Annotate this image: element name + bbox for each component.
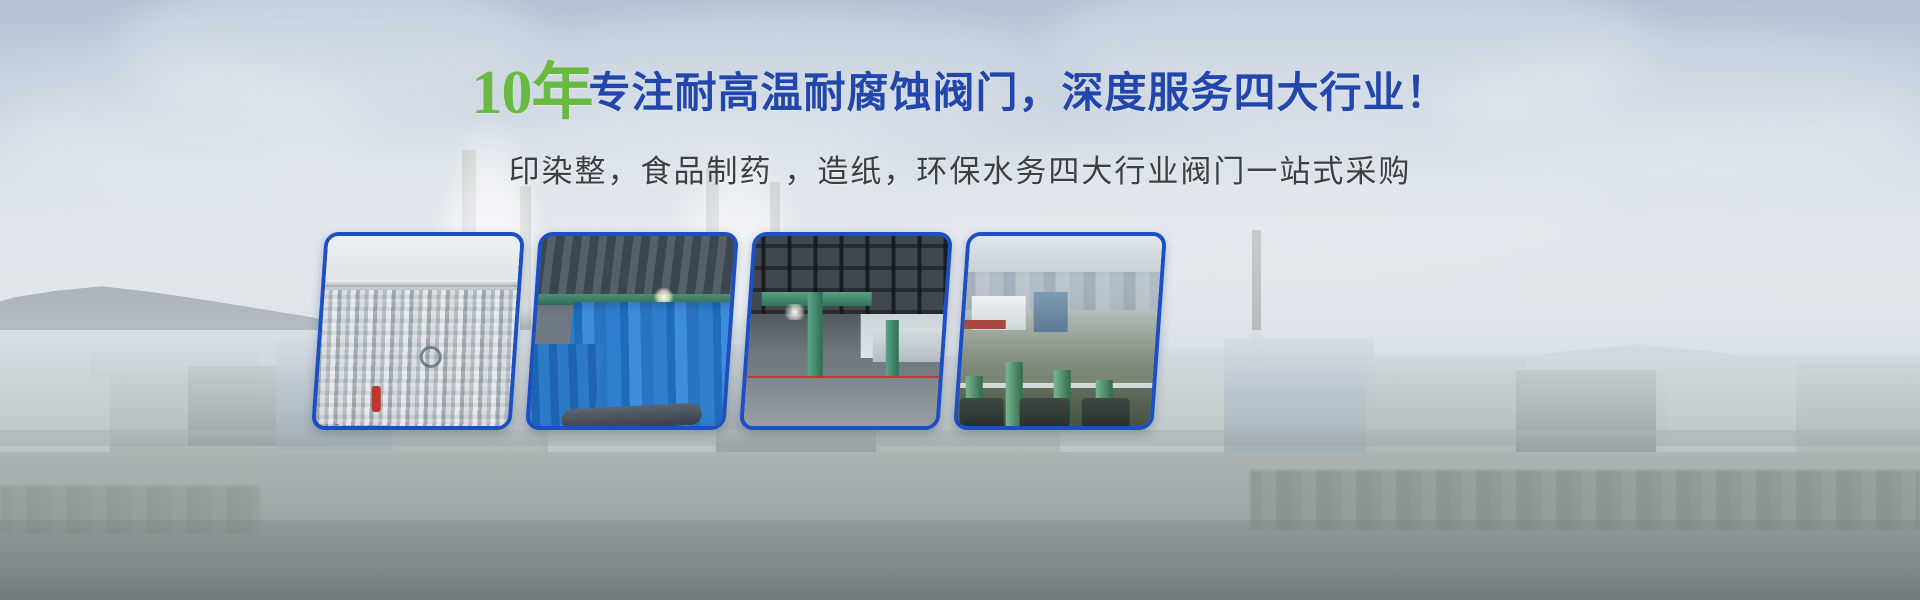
- treatment-tank: [960, 398, 1004, 428]
- thumbnail-image: [739, 236, 953, 430]
- lamp-glow: [784, 304, 806, 320]
- water-plant-photo: [953, 236, 1167, 430]
- blue-building: [1034, 292, 1068, 332]
- piping-plant-photo: 上海某公司 www.example.cn: [311, 236, 525, 430]
- thumbnail-water-treatment-plant[interactable]: [953, 232, 1167, 430]
- treatment-tank: [1020, 398, 1070, 428]
- treatment-tank: [1082, 398, 1130, 428]
- rail-shape: [314, 280, 520, 287]
- valve-wheel-icon: [420, 346, 442, 368]
- thumbnail-paper-mill-machinery[interactable]: [739, 232, 953, 430]
- sky-patch: [953, 236, 1167, 276]
- hero-banner: 10年专注耐高温耐腐蚀阀门，深度服务四大行业！ 印染整，食品制药 ，造纸，环保水…: [0, 0, 1920, 600]
- banner-content: 10年专注耐高温耐腐蚀阀门，深度服务四大行业！ 印染整，食品制药 ，造纸，环保水…: [0, 0, 1920, 600]
- thumbnail-image: [953, 236, 1167, 430]
- headline-years: 10年: [471, 59, 592, 127]
- thumbnail-gallery: 上海某公司 www.example.cn: [318, 232, 1318, 432]
- factory-floor: [739, 378, 953, 430]
- headline-main: 专注耐高温耐腐蚀阀门，深度服务四大行业！: [589, 68, 1449, 117]
- dyeing-line-photo: [525, 236, 739, 430]
- thumbnail-watermark: 上海某公司 www.example.cn: [314, 423, 389, 430]
- red-roof-building: [953, 320, 1006, 329]
- subheadline: 印染整，食品制药 ，造纸，环保水务四大行业阀门一站式采购: [0, 146, 1920, 191]
- machinery-workshop-photo: [739, 236, 953, 430]
- thumbnail-image: [525, 236, 739, 430]
- thumbnail-textile-dyeing-blue-fabric[interactable]: [525, 232, 739, 430]
- thumbnail-food-pharma-piping-plant[interactable]: 上海某公司 www.example.cn: [311, 232, 525, 430]
- red-valve-marker: [372, 386, 381, 412]
- thumbnail-image: 上海某公司 www.example.cn: [311, 236, 525, 430]
- roof-shape: [525, 236, 739, 298]
- headline: 10年专注耐高温耐腐蚀阀门，深度服务四大行业！: [0, 62, 1920, 124]
